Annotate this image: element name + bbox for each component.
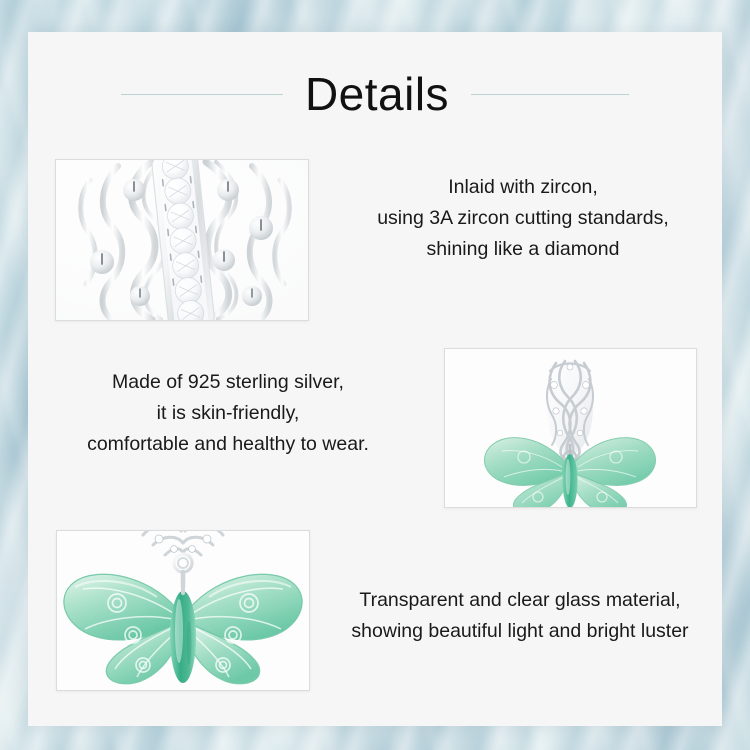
content-card: Details <box>28 32 722 726</box>
feature-text-zircon: Inlaid with zircon, using 3A zircon cutt… <box>324 172 722 265</box>
product-photo-full-charm <box>444 348 697 508</box>
feature-line: using 3A zircon cutting standards, <box>324 203 722 234</box>
product-photo-zircon-bail <box>55 159 309 321</box>
header: Details <box>28 54 722 134</box>
feature-line: it is skin-friendly, <box>30 398 426 429</box>
feature-line: Transparent and clear glass material, <box>318 585 722 616</box>
feature-line: showing beautiful light and bright luste… <box>318 616 722 647</box>
feature-text-glass: Transparent and clear glass material, sh… <box>318 585 722 647</box>
feature-line: comfortable and healthy to wear. <box>30 429 426 460</box>
page-title: Details <box>305 71 449 117</box>
product-photo-butterfly-closeup <box>56 530 310 691</box>
feature-text-silver: Made of 925 sterling silver, it is skin-… <box>30 367 426 460</box>
feature-line: shining like a diamond <box>324 234 722 265</box>
feature-line: Inlaid with zircon, <box>324 172 722 203</box>
feature-line: Made of 925 sterling silver, <box>30 367 426 398</box>
header-rule-right <box>471 94 629 95</box>
header-rule-left <box>121 94 283 95</box>
product-detail-image: Details <box>0 0 750 750</box>
